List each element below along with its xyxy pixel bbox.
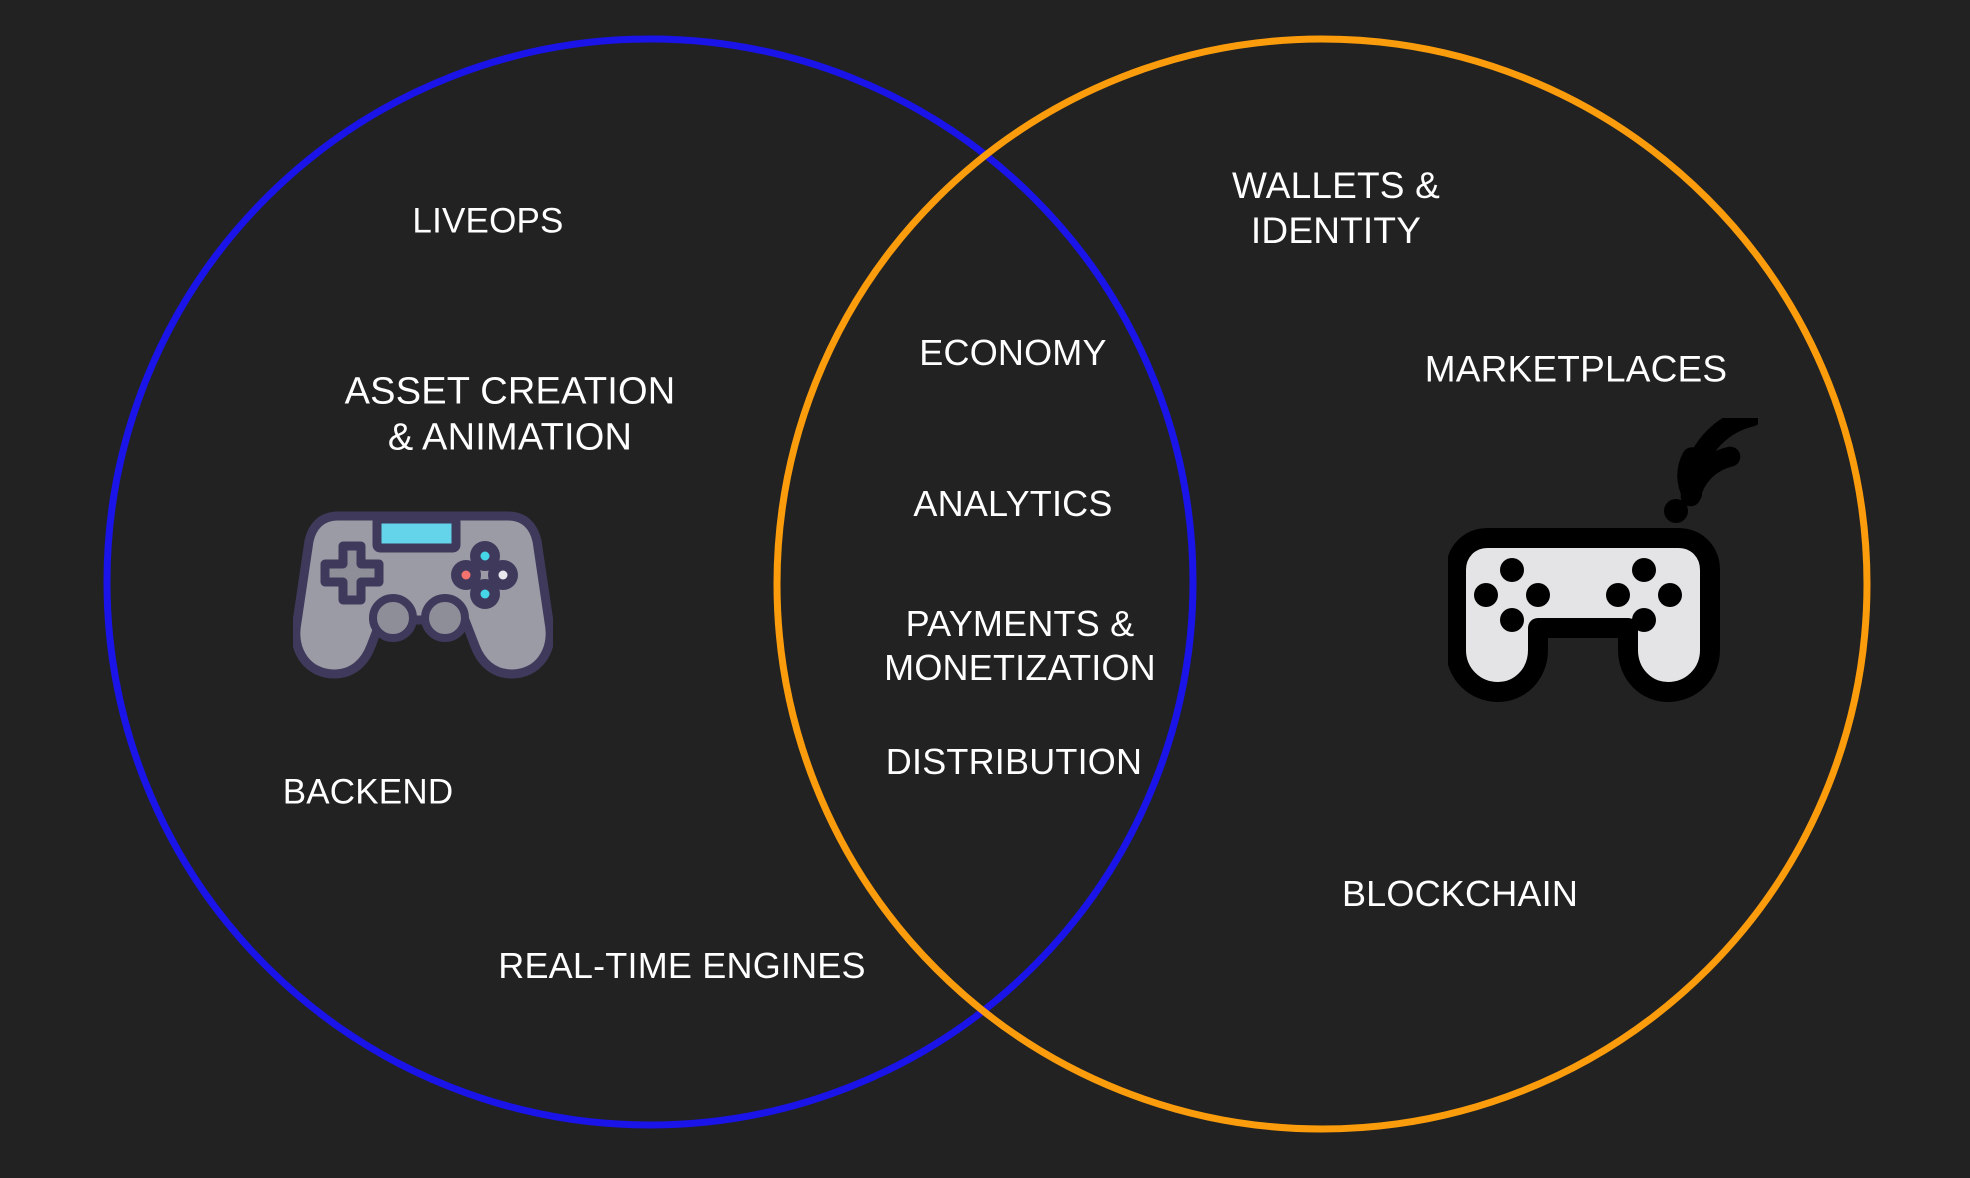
label-liveops: LIVEOPS: [412, 201, 563, 244]
venn-diagram-canvas: LIVEOPS ASSET CREATION & ANIMATION BACKE…: [0, 0, 1970, 1178]
gamepad-icon: [293, 494, 553, 684]
wifi-signal-icon: [1664, 418, 1752, 523]
label-wallets-identity: WALLETS & IDENTITY: [1232, 163, 1440, 253]
label-asset-creation: ASSET CREATION & ANIMATION: [345, 369, 676, 462]
label-analytics: ANALYTICS: [913, 482, 1112, 526]
label-backend: BACKEND: [283, 772, 454, 815]
label-blockchain: BLOCKCHAIN: [1342, 872, 1578, 916]
label-marketplaces: MARKETPLACES: [1425, 346, 1728, 391]
label-payments-monetization: PAYMENTS & MONETIZATION: [884, 602, 1156, 690]
label-distribution: DISTRIBUTION: [886, 740, 1142, 784]
wireless-gamepad-icon: [1448, 418, 1758, 718]
label-real-time-engines: REAL-TIME ENGINES: [498, 944, 865, 988]
label-economy: ECONOMY: [919, 331, 1106, 375]
